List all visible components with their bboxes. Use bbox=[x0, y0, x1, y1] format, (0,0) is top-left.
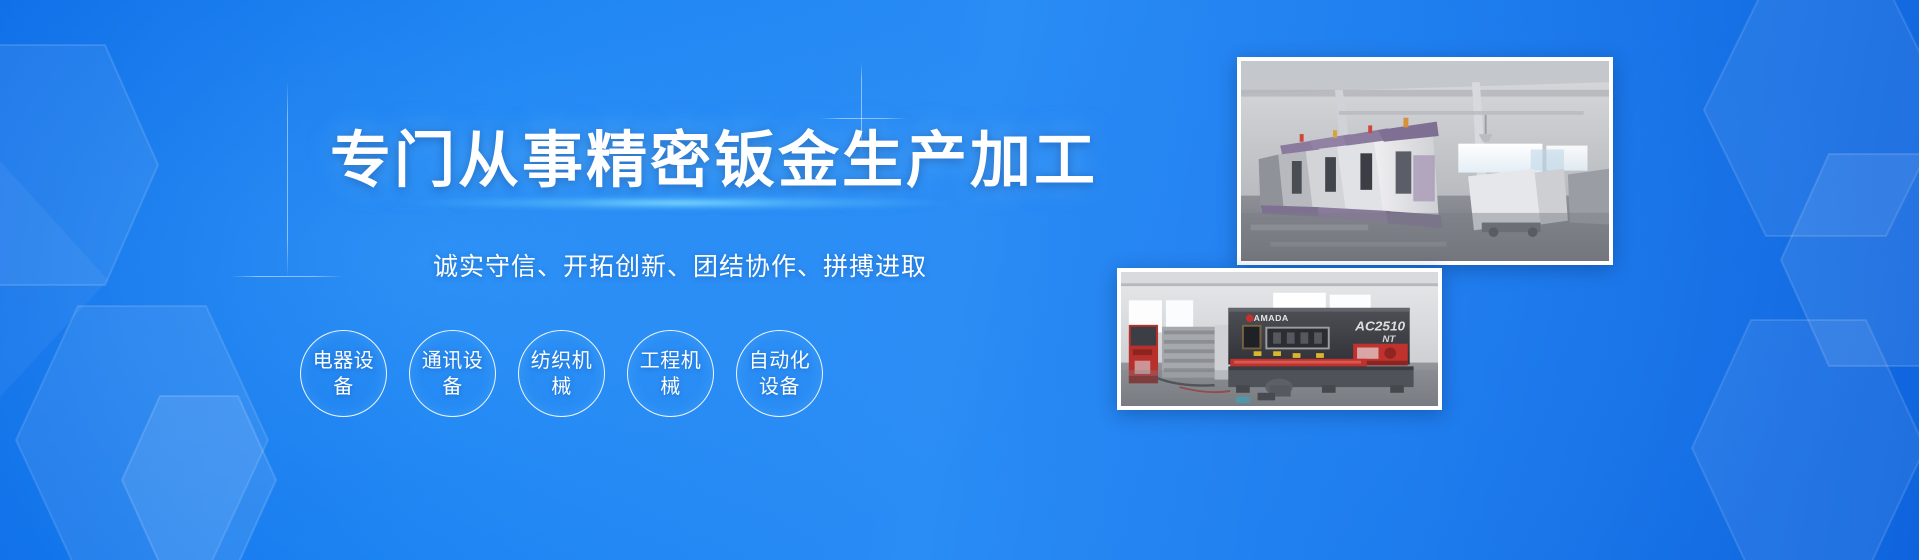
badge-label-line2: 械 bbox=[640, 374, 702, 400]
banner-subtitle: 诚实守信、开拓创新、团结协作、拼搏进取 bbox=[330, 250, 1030, 284]
svg-text:AMADA: AMADA bbox=[1254, 313, 1289, 323]
badge-label-line1: 纺织机 bbox=[531, 348, 593, 374]
category-badge-communication-equipment[interactable]: 通讯设 备 bbox=[409, 330, 496, 417]
category-badge-list: 电器设 备 通讯设 备 纺织机 械 工程机 械 自动化 设备 bbox=[300, 330, 823, 417]
svg-text:NT: NT bbox=[1382, 334, 1396, 345]
hexagon-shape-right-mid bbox=[1776, 150, 1919, 370]
photo-amada-punch-press: AMADA AC2510 NT bbox=[1117, 268, 1442, 410]
photo-factory-workshop-image bbox=[1241, 61, 1609, 261]
badge-label-line2: 备 bbox=[422, 374, 484, 400]
badge-label-line2: 设备 bbox=[749, 374, 811, 400]
badge-label-line1: 工程机 bbox=[640, 348, 702, 374]
photo-amada-punch-press-image: AMADA AC2510 NT bbox=[1121, 272, 1438, 406]
hexagon-shape-left-small bbox=[118, 392, 278, 560]
badge-label-line1: 通讯设 bbox=[422, 348, 484, 374]
hexagon-shape-right-bottom bbox=[1688, 316, 1919, 560]
svg-text:AC2510: AC2510 bbox=[1354, 319, 1406, 334]
hexagon-shape-left-top bbox=[0, 40, 160, 290]
guide-line-horizontal-left bbox=[230, 276, 343, 277]
badge-label-line2: 备 bbox=[313, 374, 375, 400]
category-badge-textile-machinery[interactable]: 纺织机 械 bbox=[518, 330, 605, 417]
triangle-shape-left-edge bbox=[0, 150, 110, 410]
category-badge-electrical-equipment[interactable]: 电器设 备 bbox=[300, 330, 387, 417]
hexagon-shape-left-bottom bbox=[10, 300, 270, 560]
hexagon-shape-right-top bbox=[1700, 0, 1919, 240]
badge-label-line1: 自动化 bbox=[749, 348, 811, 374]
promo-banner: 专门从事精密钣金生产加工 诚实守信、开拓创新、团结协作、拼搏进取 电器设 备 通… bbox=[0, 0, 1919, 560]
photo-factory-workshop bbox=[1237, 57, 1613, 265]
guide-line-vertical-left bbox=[287, 80, 288, 278]
headline-container: 专门从事精密钣金生产加工 bbox=[330, 124, 1030, 196]
category-badge-engineering-machinery[interactable]: 工程机 械 bbox=[627, 330, 714, 417]
badge-label-line1: 电器设 bbox=[313, 348, 375, 374]
guide-line-horizontal-right bbox=[820, 118, 906, 119]
headline-glow-underline bbox=[400, 196, 960, 210]
badge-label-line2: 械 bbox=[531, 374, 593, 400]
category-badge-automation-equipment[interactable]: 自动化 设备 bbox=[736, 330, 823, 417]
banner-headline: 专门从事精密钣金生产加工 bbox=[330, 124, 1030, 196]
